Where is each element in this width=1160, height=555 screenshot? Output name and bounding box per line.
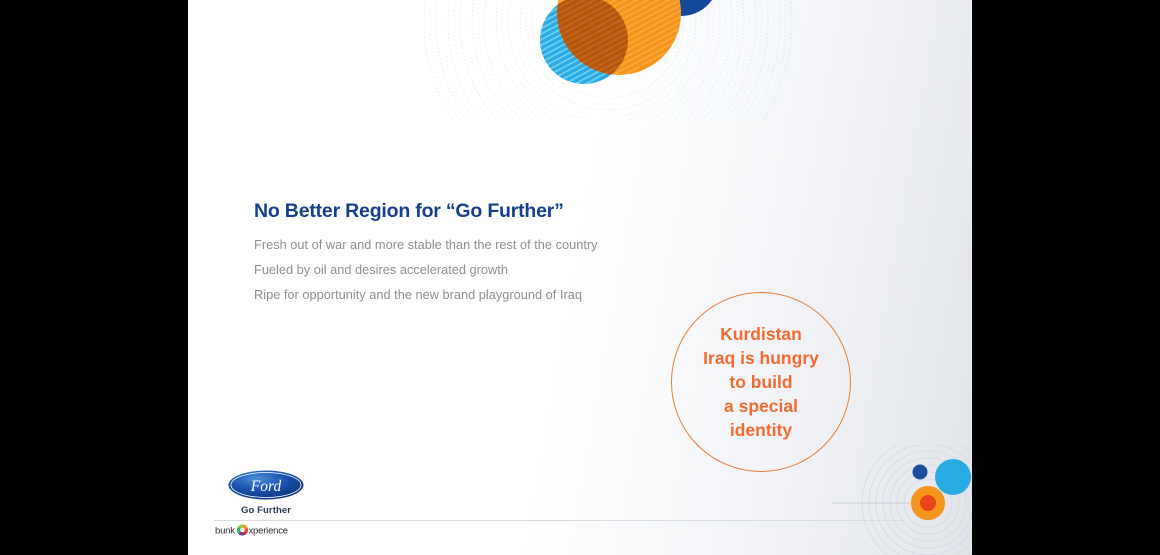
svg-text:xperience: xperience <box>249 526 288 537</box>
concentric-rings <box>862 445 972 555</box>
presentation-slide: No Better Region for “Go Further” Fresh … <box>188 0 972 555</box>
callout-line-2: Iraq is hungry <box>703 346 819 370</box>
callout-line-1: Kurdistan <box>720 322 802 346</box>
ford-logo-group: Ford Go Further <box>218 470 314 516</box>
bullet-line-3: Ripe for opportunity and the new brand p… <box>254 289 724 302</box>
letterbox-right <box>972 0 1160 555</box>
decor-circle-navy <box>643 0 719 16</box>
callout-line-3: to build <box>729 370 792 394</box>
decor-overlap-navy-orange <box>557 0 681 75</box>
decor-dot-navy <box>913 465 928 480</box>
svg-text:Ford: Ford <box>250 478 282 495</box>
decor-dot-cyan <box>935 459 971 495</box>
decor-overlap-cyan-orange <box>557 0 681 75</box>
decor-dot-red <box>920 495 936 511</box>
bullet-line-1: Fresh out of war and more stable than th… <box>254 239 724 252</box>
decor-dot-orange <box>911 486 945 520</box>
ford-tagline: Go Further <box>218 505 314 516</box>
page-title: No Better Region for “Go Further” <box>254 200 724 223</box>
slide-viewer: No Better Region for “Go Further” Fresh … <box>0 0 1160 555</box>
callout-circle: Kurdistan Iraq is hungry to build a spec… <box>671 292 851 472</box>
footer-divider <box>214 520 904 521</box>
bunk-experience-logo-icon: bunk xperience <box>215 523 301 537</box>
svg-text:bunk: bunk <box>215 526 235 537</box>
letterbox-left <box>0 0 188 555</box>
agency-logo: bunk xperience <box>215 523 301 537</box>
top-decoration-graphic <box>188 0 972 120</box>
bullet-line-2: Fueled by oil and desires accelerated gr… <box>254 264 724 277</box>
radiating-arc-texture <box>424 0 792 120</box>
ford-logo-icon: Ford <box>228 470 304 500</box>
headline-block: No Better Region for “Go Further” Fresh … <box>254 200 724 301</box>
bottom-decoration-graphic <box>832 445 972 555</box>
ford-oval-logo: Ford <box>228 470 304 500</box>
decor-circle-orange <box>557 0 681 75</box>
decor-circle-cyan <box>540 0 628 84</box>
callout-line-5: identity <box>730 418 792 442</box>
callout-line-4: a special <box>724 394 798 418</box>
